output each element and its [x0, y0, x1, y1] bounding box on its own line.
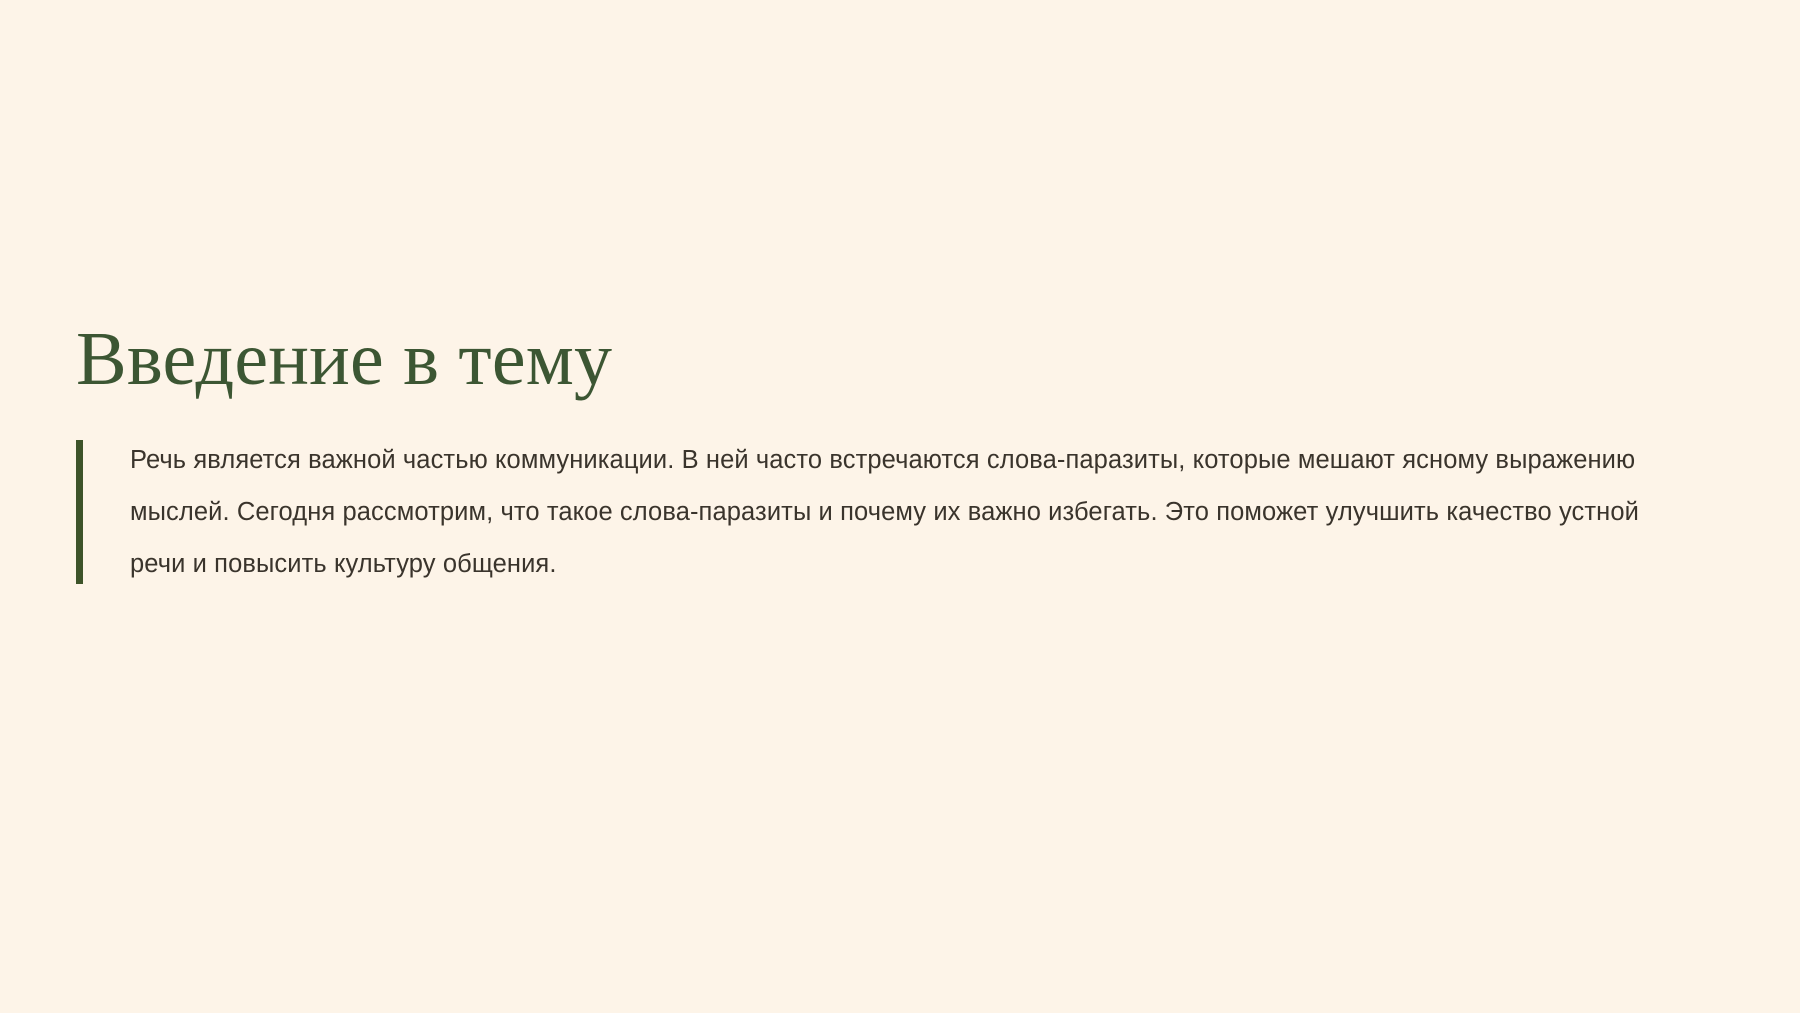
slide-content: Введение в тему Речь является важной час…: [76, 318, 1736, 590]
slide-canvas: Введение в тему Речь является важной час…: [0, 0, 1800, 1013]
accent-bar: [76, 440, 83, 584]
page-title: Введение в тему: [76, 318, 1736, 400]
intro-paragraph: Речь является важной частью коммуникации…: [130, 434, 1690, 590]
intro-quote-block: Речь является важной частью коммуникации…: [76, 434, 1736, 590]
